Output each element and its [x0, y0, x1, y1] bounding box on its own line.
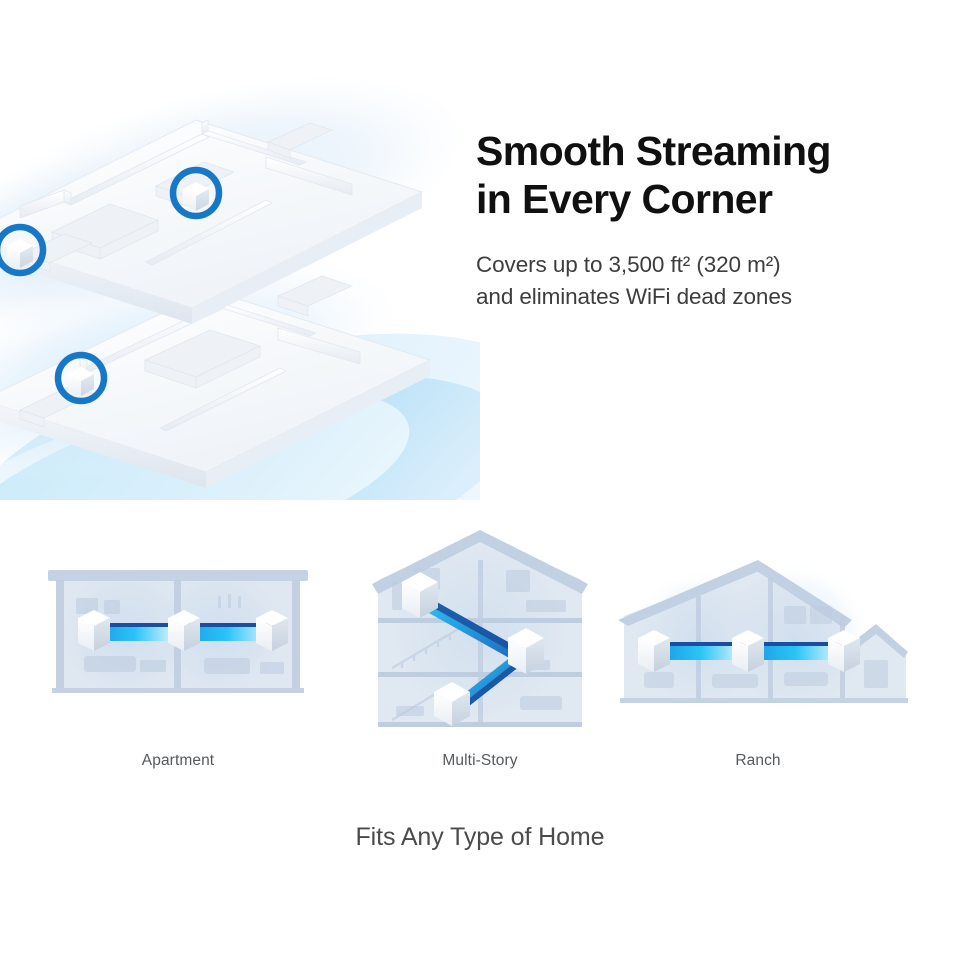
home-type-multi-story: Multi-Story [330, 520, 630, 810]
home-type-label: Apartment [28, 752, 328, 770]
page-title: Smooth Streaming in Every Corner [476, 128, 926, 223]
marketing-banner: Smooth Streaming in Every Corner Covers … [0, 0, 960, 960]
hero-copy: Smooth Streaming in Every Corner Covers … [476, 128, 926, 313]
home-type-ranch: Ranch [608, 520, 908, 810]
multi-story-illustration [330, 520, 630, 760]
home-types-section: Apartment [0, 520, 960, 820]
footer-note: Fits Any Type of Home [0, 823, 960, 852]
home-type-apartment: Apartment [28, 520, 328, 810]
mesh-unit [828, 630, 860, 672]
home-type-label: Ranch [608, 752, 908, 770]
subline-line-2: and eliminates WiFi dead zones [476, 284, 792, 309]
headline-line-1: Smooth Streaming [476, 128, 831, 174]
hero-subtitle: Covers up to 3,500 ft² (320 m²) and elim… [476, 249, 926, 313]
home-type-label: Multi-Story [330, 752, 630, 770]
ranch-illustration [608, 520, 908, 760]
hero-section: Smooth Streaming in Every Corner Covers … [0, 0, 960, 510]
headline-line-2: in Every Corner [476, 176, 772, 222]
two-story-floorplan-coverage-illustration [0, 40, 480, 500]
floorplan-svg [0, 40, 480, 500]
mesh-unit [732, 630, 764, 672]
mesh-unit [168, 610, 200, 651]
mesh-unit [78, 610, 110, 651]
mesh-unit [638, 630, 670, 672]
mesh-unit [256, 610, 288, 651]
subline-line-1: Covers up to 3,500 ft² (320 m²) [476, 252, 781, 277]
apartment-illustration [28, 520, 328, 760]
